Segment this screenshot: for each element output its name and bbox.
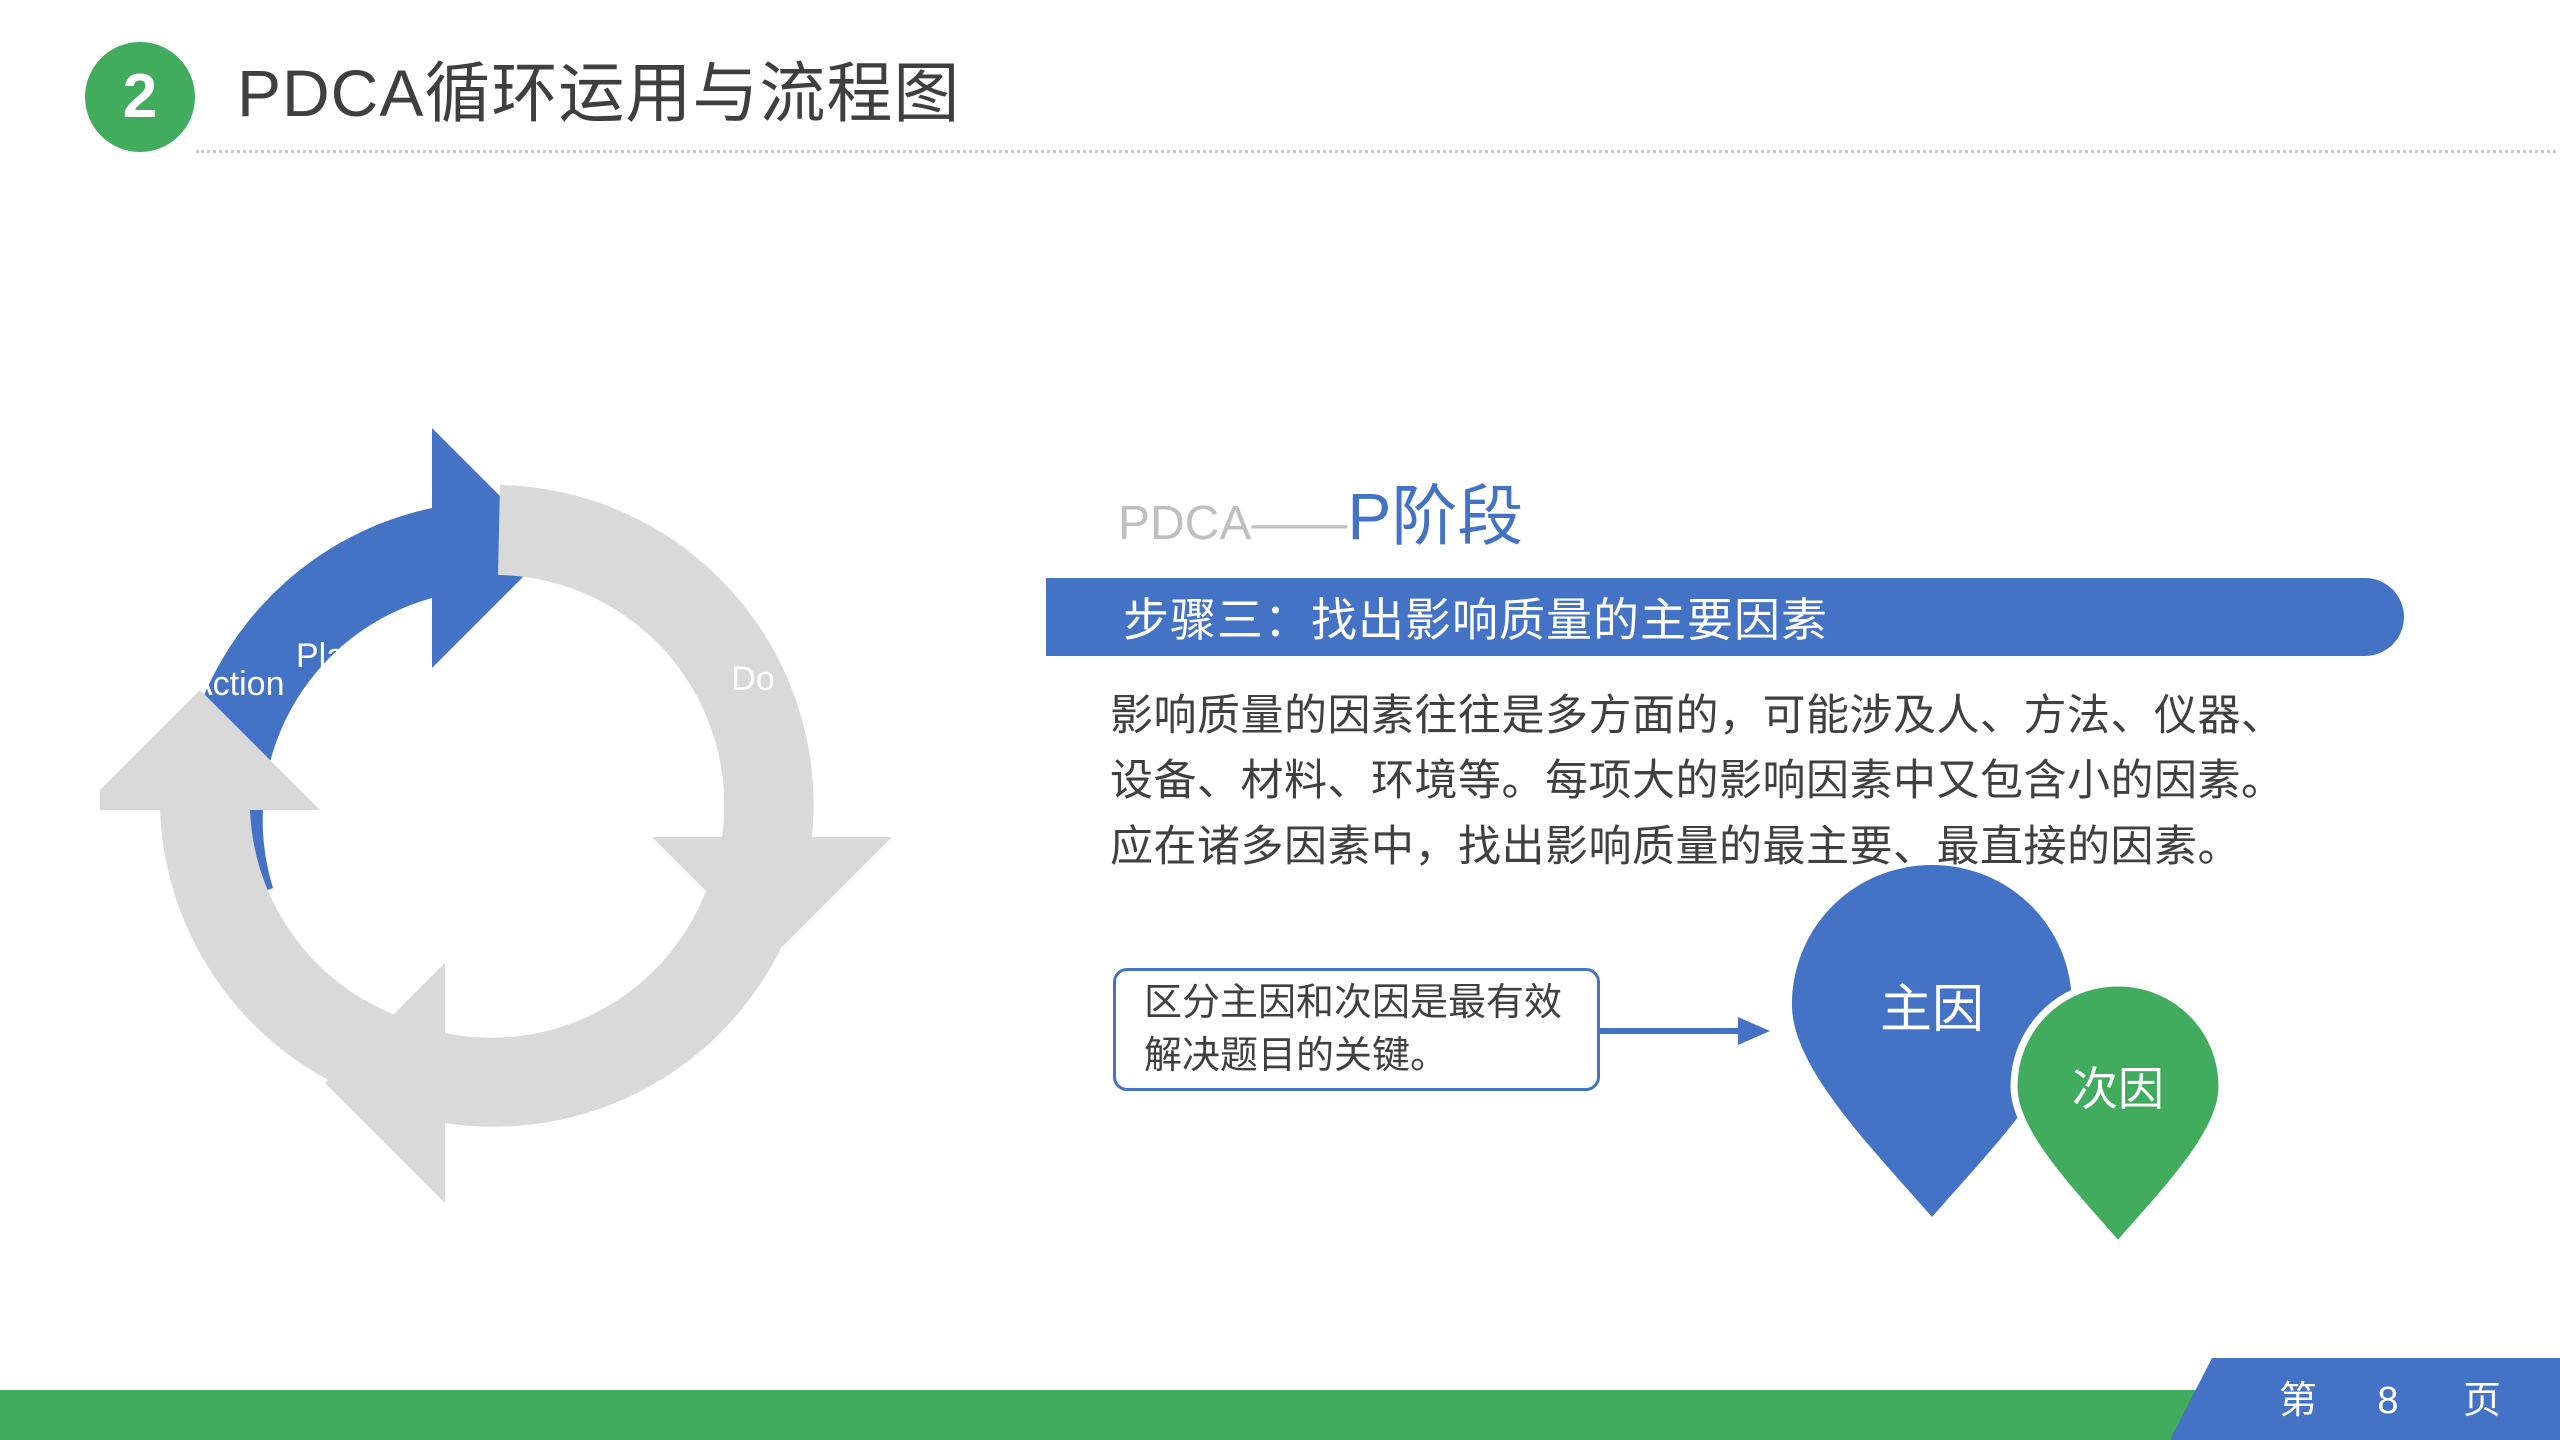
callout-connector-arrow-icon bbox=[1598, 1006, 1778, 1056]
stage-heading-name: P阶段 bbox=[1347, 479, 1523, 553]
factor-pin-group: 主因 次因 bbox=[1780, 855, 2280, 1255]
stage-heading: PDCA——P阶段 bbox=[1118, 483, 1523, 549]
section-number-label: 2 bbox=[123, 66, 157, 128]
footer-accent-bar bbox=[0, 1390, 2230, 1440]
slide-canvas: 2 PDCA循环运用与流程图 Plan Do Check Ac bbox=[0, 0, 2560, 1440]
page-title: PDCA循环运用与流程图 bbox=[237, 40, 960, 136]
wheel-label-check: Check bbox=[632, 1090, 729, 1128]
step-banner-label: 步骤三：找出影响质量的主要因素 bbox=[1046, 584, 1828, 650]
footer-page-suffix: 页 bbox=[2463, 1380, 2501, 1422]
section-number-badge: 2 bbox=[85, 42, 195, 152]
wheel-label-do: Do bbox=[731, 660, 774, 698]
stage-heading-prefix: PDCA—— bbox=[1118, 497, 1347, 550]
footer-page-number: 8 bbox=[2377, 1380, 2398, 1422]
wheel-segment-do bbox=[498, 485, 892, 957]
pin-primary-label: 主因 bbox=[1880, 981, 1984, 1039]
footer-page-indicator: 第 8 页 bbox=[2170, 1358, 2560, 1440]
pin-secondary-label: 次因 bbox=[2072, 1063, 2164, 1115]
wheel-label-plan: Plan bbox=[296, 637, 364, 675]
wheel-label-action: Action bbox=[190, 665, 285, 703]
callout-text: 区分主因和次因是最有效解决题目的关键。 bbox=[1116, 977, 1597, 1082]
callout-box: 区分主因和次因是最有效解决题目的关键。 bbox=[1113, 968, 1600, 1091]
footer-page-prefix: 第 bbox=[2279, 1380, 2317, 1422]
step-banner: 步骤三：找出影响质量的主要因素 bbox=[1046, 578, 2404, 656]
body-paragraph: 影响质量的因素往往是多方面的，可能涉及人、方法、仪器、设备、材料、环境等。每项大… bbox=[1110, 684, 2310, 880]
header-divider bbox=[196, 150, 2556, 153]
pdca-cycle-diagram: Plan Do Check Action bbox=[100, 390, 960, 1220]
